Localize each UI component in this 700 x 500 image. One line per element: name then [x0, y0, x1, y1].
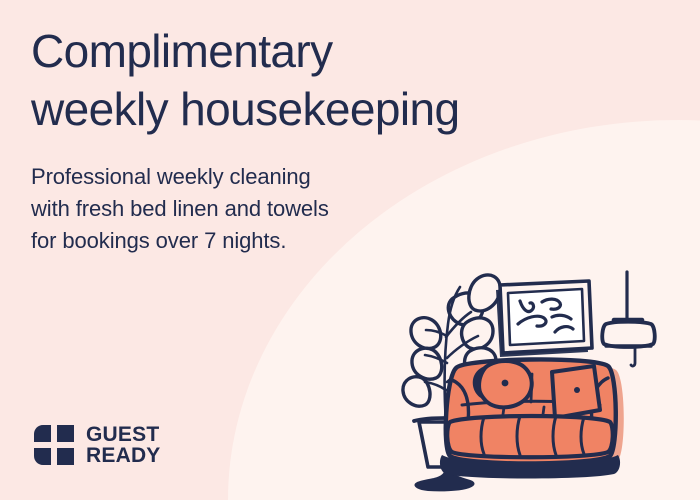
- page-subtitle: Professional weekly cleaning with fresh …: [31, 161, 451, 257]
- framed-wall-art-icon: [496, 281, 592, 357]
- brand-logo: GUEST READY: [33, 424, 161, 466]
- sofa-icon: [440, 359, 624, 478]
- page-title: Complimentary weekly housekeeping: [31, 22, 631, 138]
- pendant-lamp-icon: [602, 272, 654, 366]
- living-room-illustration: [392, 262, 700, 500]
- card-content: Complimentary weekly housekeeping Profes…: [0, 0, 700, 500]
- brand-wordmark: GUEST READY: [86, 424, 161, 466]
- promo-card: Complimentary weekly housekeeping Profes…: [0, 0, 700, 500]
- guest-ready-quadrant-mark: [33, 424, 75, 466]
